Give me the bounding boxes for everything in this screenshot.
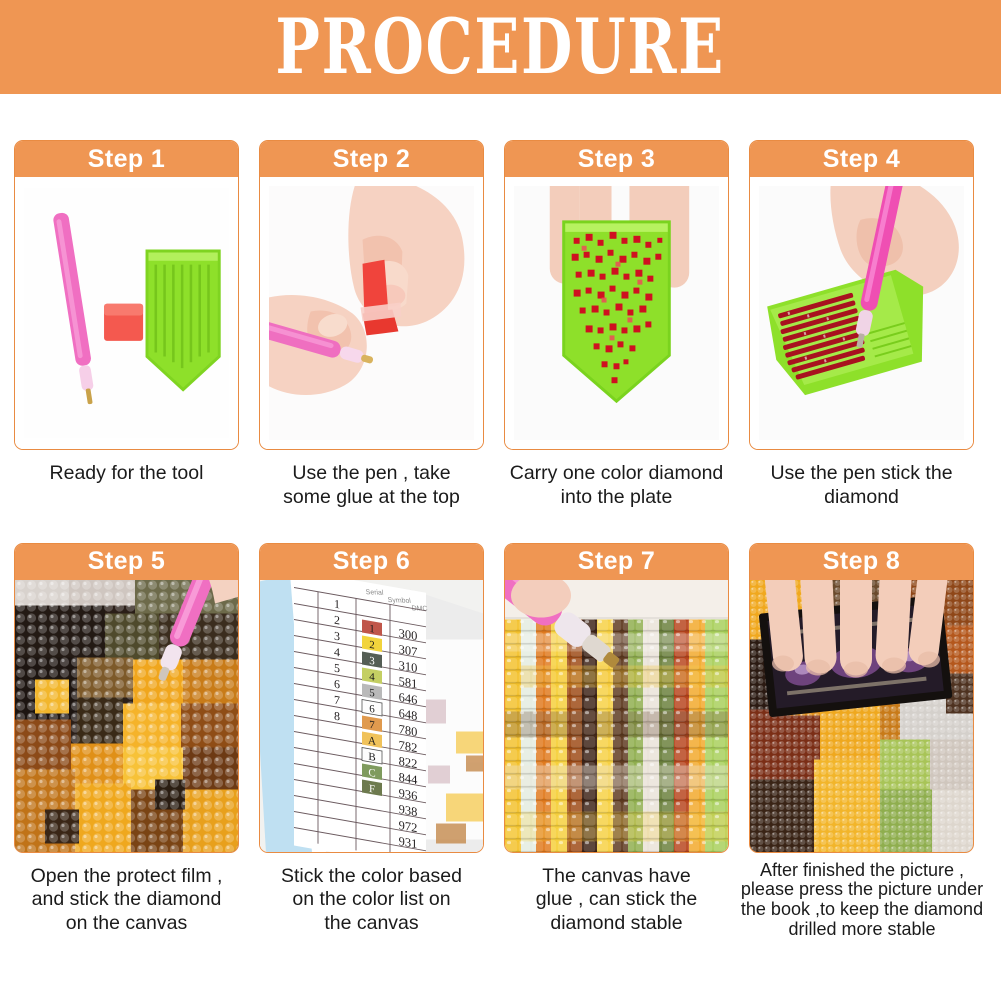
step-6-photo: Serial Symbol DMC bbox=[260, 580, 483, 852]
step-5-header: Step 5 bbox=[15, 544, 238, 580]
step-3-photo bbox=[505, 177, 728, 449]
step-card-1: Step 1 bbox=[14, 140, 239, 510]
svg-text:F: F bbox=[369, 782, 375, 795]
step-6-caption: Stick the color based on the color list … bbox=[259, 865, 484, 936]
svg-text:5: 5 bbox=[334, 660, 340, 675]
svg-text:DMC: DMC bbox=[411, 605, 428, 613]
svg-text:2: 2 bbox=[369, 638, 375, 651]
svg-text:1: 1 bbox=[369, 622, 375, 635]
svg-text:5: 5 bbox=[369, 686, 375, 699]
svg-text:4: 4 bbox=[334, 644, 340, 659]
step-7-caption: The canvas have glue , can stick the dia… bbox=[504, 865, 729, 936]
step-card-8: Step 8 bbox=[749, 543, 974, 940]
step-1-label: Step 1 bbox=[88, 147, 165, 172]
sunflower-mosaic-illustration bbox=[15, 580, 238, 852]
step-8-photo bbox=[750, 580, 973, 852]
step-4-photo bbox=[750, 177, 973, 449]
svg-text:B: B bbox=[368, 750, 375, 763]
step-3-header: Step 3 bbox=[505, 141, 728, 177]
svg-text:A: A bbox=[368, 734, 376, 747]
svg-text:4: 4 bbox=[369, 670, 375, 683]
step-card-5-frame: Step 5 bbox=[14, 543, 239, 853]
step-8-caption: After finished the picture , please pres… bbox=[737, 861, 987, 940]
step-1-header: Step 1 bbox=[15, 141, 238, 177]
tray-with-diamonds-illustration bbox=[514, 186, 719, 440]
step-card-1-frame: Step 1 bbox=[14, 140, 239, 450]
step-5-photo bbox=[15, 580, 238, 852]
step-4-header: Step 4 bbox=[750, 141, 973, 177]
svg-text:6: 6 bbox=[334, 676, 340, 691]
steps-row-top: Step 1 bbox=[0, 140, 1001, 510]
step-3-label: Step 3 bbox=[578, 147, 655, 172]
step-7-label: Step 7 bbox=[578, 549, 655, 574]
step-2-photo bbox=[260, 177, 483, 449]
step-2-label: Step 2 bbox=[333, 147, 410, 172]
step-4-caption: Use the pen stick the diamond bbox=[749, 462, 974, 510]
step-7-header: Step 7 bbox=[505, 544, 728, 580]
step-card-5: Step 5 bbox=[14, 543, 239, 940]
step-8-label: Step 8 bbox=[823, 549, 900, 574]
svg-text:1: 1 bbox=[334, 596, 340, 611]
svg-text:6: 6 bbox=[369, 702, 375, 715]
pen-picking-diamond-illustration bbox=[759, 186, 964, 440]
svg-text:2: 2 bbox=[334, 612, 340, 627]
step-8-header: Step 8 bbox=[750, 544, 973, 580]
svg-text:7: 7 bbox=[334, 692, 340, 707]
step-2-header: Step 2 bbox=[260, 141, 483, 177]
step-2-caption: Use the pen , take some glue at the top bbox=[259, 462, 484, 510]
svg-text:8: 8 bbox=[334, 708, 340, 723]
step-1-photo bbox=[15, 177, 238, 449]
step-card-6: Step 6 bbox=[259, 543, 484, 940]
step-6-header: Step 6 bbox=[260, 544, 483, 580]
svg-text:3: 3 bbox=[369, 654, 375, 667]
svg-text:7: 7 bbox=[369, 718, 375, 731]
page-header-banner: PROCEDURE bbox=[0, 0, 1001, 94]
canvas-placing-diamond-illustration bbox=[505, 580, 728, 852]
hands-glue-illustration bbox=[269, 186, 474, 440]
step-card-2: Step 2 bbox=[259, 140, 484, 510]
step-card-4: Step 4 bbox=[749, 140, 974, 510]
svg-text:Symbol: Symbol bbox=[387, 597, 411, 605]
step-5-caption: Open the protect film , and stick the di… bbox=[14, 865, 239, 936]
svg-text:C: C bbox=[368, 766, 375, 779]
color-chart-illustration: Serial Symbol DMC bbox=[260, 580, 483, 852]
svg-text:3: 3 bbox=[334, 628, 340, 643]
step-card-2-frame: Step 2 bbox=[259, 140, 484, 450]
step-card-4-frame: Step 4 bbox=[749, 140, 974, 450]
step-3-caption: Carry one color diamond into the plate bbox=[504, 462, 729, 510]
step-1-caption: Ready for the tool bbox=[14, 462, 239, 486]
step-card-3: Step 3 bbox=[504, 140, 729, 510]
pressing-book-illustration bbox=[750, 580, 973, 852]
step-card-7: Step 7 bbox=[504, 543, 729, 940]
step-card-3-frame: Step 3 bbox=[504, 140, 729, 450]
step-5-label: Step 5 bbox=[88, 549, 165, 574]
page-title: PROCEDURE bbox=[276, 9, 725, 85]
step-7-photo bbox=[505, 580, 728, 852]
steps-row-bottom: Step 5 bbox=[0, 543, 1001, 940]
step-4-label: Step 4 bbox=[823, 147, 900, 172]
step-card-8-frame: Step 8 bbox=[749, 543, 974, 853]
step-6-label: Step 6 bbox=[333, 549, 410, 574]
svg-text:Serial: Serial bbox=[365, 589, 384, 597]
step-card-7-frame: Step 7 bbox=[504, 543, 729, 853]
step-card-6-frame: Step 6 bbox=[259, 543, 484, 853]
tools-illustration bbox=[24, 186, 229, 440]
